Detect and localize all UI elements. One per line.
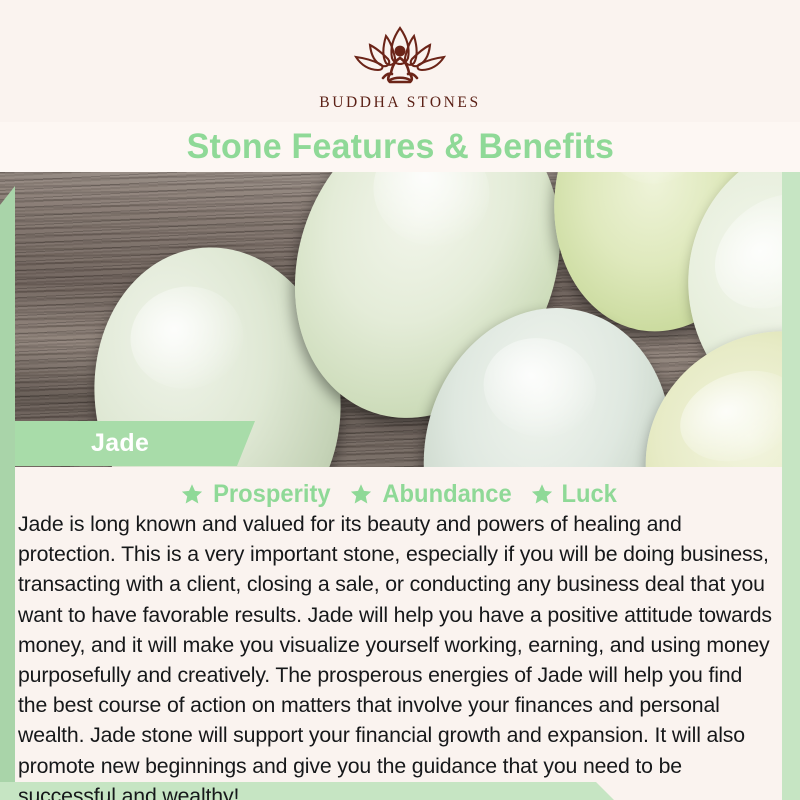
- benefit-item-prosperity: Prosperity: [181, 480, 334, 509]
- infographic-card: BUDDHA STONES Stone Features & Benefits …: [0, 0, 800, 800]
- benefit-item-luck: Luck: [531, 480, 618, 509]
- brand-wordmark: BUDDHA STONES: [319, 94, 480, 112]
- lotus-meditation-icon: [340, 18, 460, 90]
- stone-name-label: Jade: [91, 429, 149, 458]
- benefit-item-abundance: Abundance: [350, 480, 515, 509]
- benefit-label: Luck: [562, 480, 617, 509]
- benefit-label: Abundance: [382, 480, 511, 509]
- title-band: Stone Features & Benefits: [0, 122, 800, 172]
- brand-header: BUDDHA STONES: [0, 0, 800, 124]
- stone-description: Jade is long known and valued for its be…: [18, 509, 774, 800]
- star-icon: [181, 483, 203, 505]
- star-icon: [350, 483, 372, 505]
- benefit-label: Prosperity: [214, 480, 331, 509]
- page-title: Stone Features & Benefits: [186, 127, 613, 167]
- star-icon: [531, 483, 553, 505]
- benefits-row: Prosperity Abundance Luck: [0, 478, 800, 510]
- stone-name-banner: Jade: [15, 421, 255, 466]
